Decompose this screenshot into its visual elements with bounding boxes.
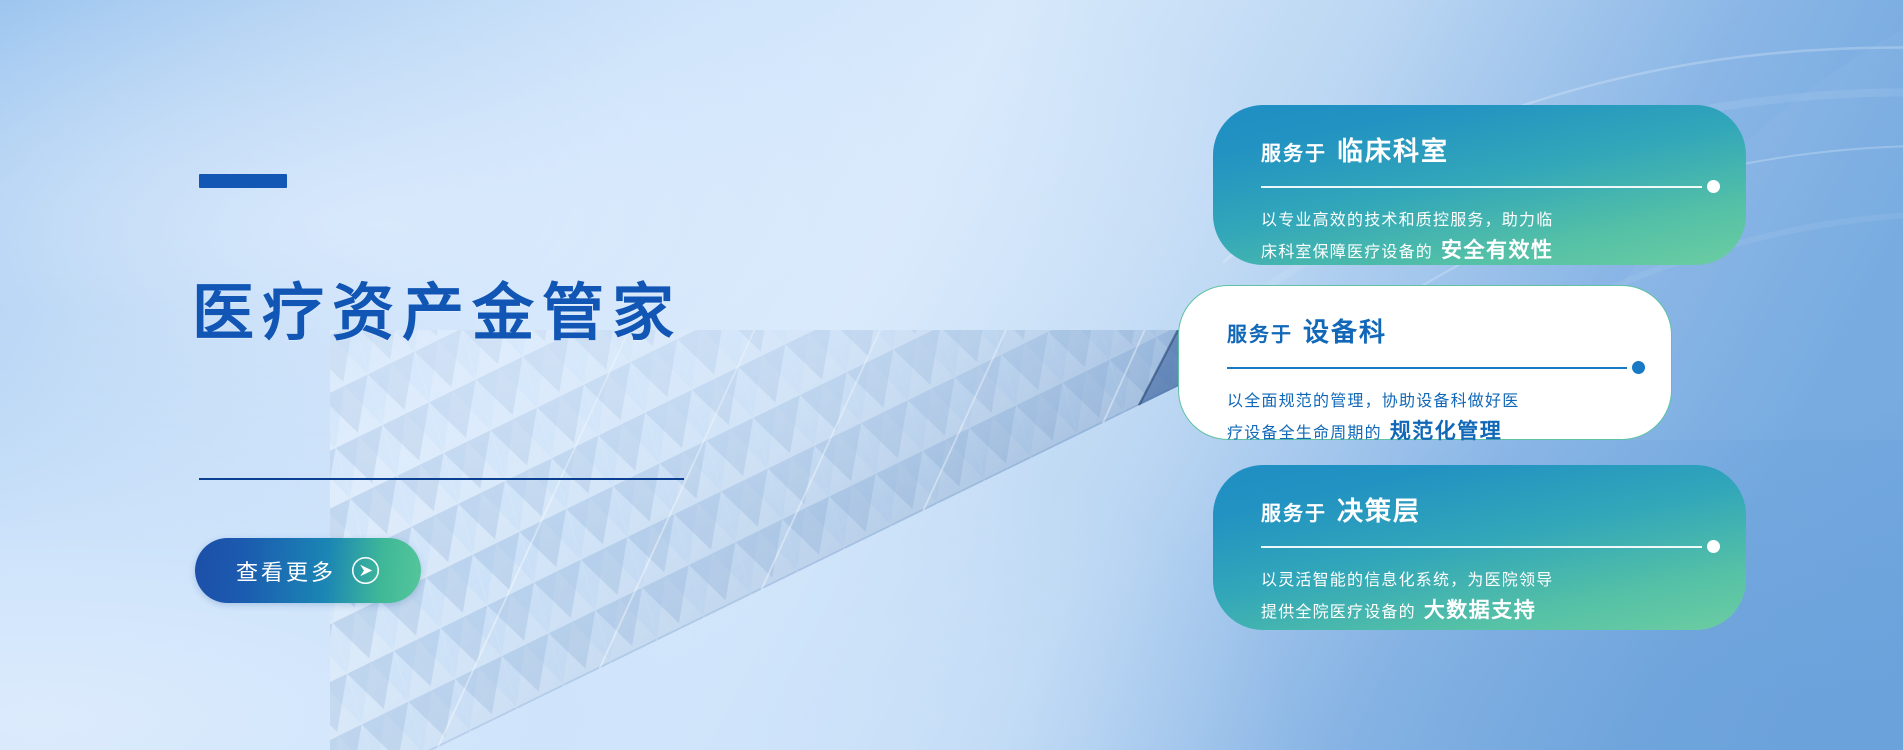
card-body-line: 以全面规范的管理，协助设备科做好医 — [1227, 387, 1631, 417]
card-divider — [1261, 540, 1720, 553]
card-divider-line — [1261, 546, 1702, 548]
service-card-decision[interactable]: 服务于 决策层 以灵活智能的信息化系统，为医院领导 提供全院医疗设备的 大数据支… — [1213, 465, 1746, 630]
card-title: 服务于 临床科室 — [1261, 131, 1706, 168]
card-body-line: 以灵活智能的信息化系统，为医院领导 — [1261, 566, 1706, 596]
card-body-line: 床科室保障医疗设备的 安全有效性 — [1261, 236, 1706, 268]
hero-banner: 医疗资产金管家 查看更多 服务于 临床科室 以专业高效的技术和质控服务， — [0, 0, 1903, 750]
card-title: 服务于 设备科 — [1227, 312, 1631, 349]
card-divider — [1227, 361, 1645, 374]
card-body-highlight: 大数据支持 — [1424, 596, 1537, 626]
card-body: 以灵活智能的信息化系统，为医院领导 提供全院医疗设备的 大数据支持 — [1261, 566, 1706, 628]
card-divider-line — [1227, 367, 1627, 369]
card-divider — [1261, 180, 1720, 193]
card-divider-line — [1261, 186, 1702, 188]
card-body-text: 疗设备全生命周期的 — [1227, 419, 1382, 449]
card-divider-dot — [1632, 361, 1645, 374]
card-body-highlight: 规范化管理 — [1390, 417, 1503, 447]
card-body-text: 以全面规范的管理，协助设备科做好医 — [1227, 387, 1519, 417]
card-title-prefix: 服务于 — [1261, 497, 1327, 526]
card-body-highlight: 安全有效性 — [1441, 236, 1554, 266]
card-body-text: 床科室保障医疗设备的 — [1261, 238, 1433, 268]
card-body-text: 提供全院医疗设备的 — [1261, 598, 1416, 628]
card-title-prefix: 服务于 — [1261, 137, 1327, 166]
card-body-text: 以专业高效的技术和质控服务，助力临 — [1261, 206, 1553, 236]
card-title-emphasis: 决策层 — [1337, 491, 1421, 528]
card-title-emphasis: 设备科 — [1303, 312, 1387, 349]
card-title-emphasis: 临床科室 — [1337, 131, 1449, 168]
service-card-clinical[interactable]: 服务于 临床科室 以专业高效的技术和质控服务，助力临 床科室保障医疗设备的 安全… — [1213, 105, 1746, 265]
card-body-line: 以专业高效的技术和质控服务，助力临 — [1261, 206, 1706, 236]
card-body: 以专业高效的技术和质控服务，助力临 床科室保障医疗设备的 安全有效性 — [1261, 206, 1706, 268]
card-divider-dot — [1707, 180, 1720, 193]
card-body-line: 疗设备全生命周期的 规范化管理 — [1227, 417, 1631, 449]
card-title: 服务于 决策层 — [1261, 491, 1706, 528]
card-title-prefix: 服务于 — [1227, 318, 1293, 347]
card-body-line: 提供全院医疗设备的 大数据支持 — [1261, 596, 1706, 628]
service-card-equipment[interactable]: 服务于 设备科 以全面规范的管理，协助设备科做好医 疗设备全生命周期的 规范化管… — [1178, 285, 1672, 440]
card-body-text: 以灵活智能的信息化系统，为医院领导 — [1261, 566, 1553, 596]
card-body: 以全面规范的管理，协助设备科做好医 疗设备全生命周期的 规范化管理 — [1227, 387, 1631, 449]
service-card-list: 服务于 临床科室 以专业高效的技术和质控服务，助力临 床科室保障医疗设备的 安全… — [0, 0, 1903, 750]
card-divider-dot — [1707, 540, 1720, 553]
